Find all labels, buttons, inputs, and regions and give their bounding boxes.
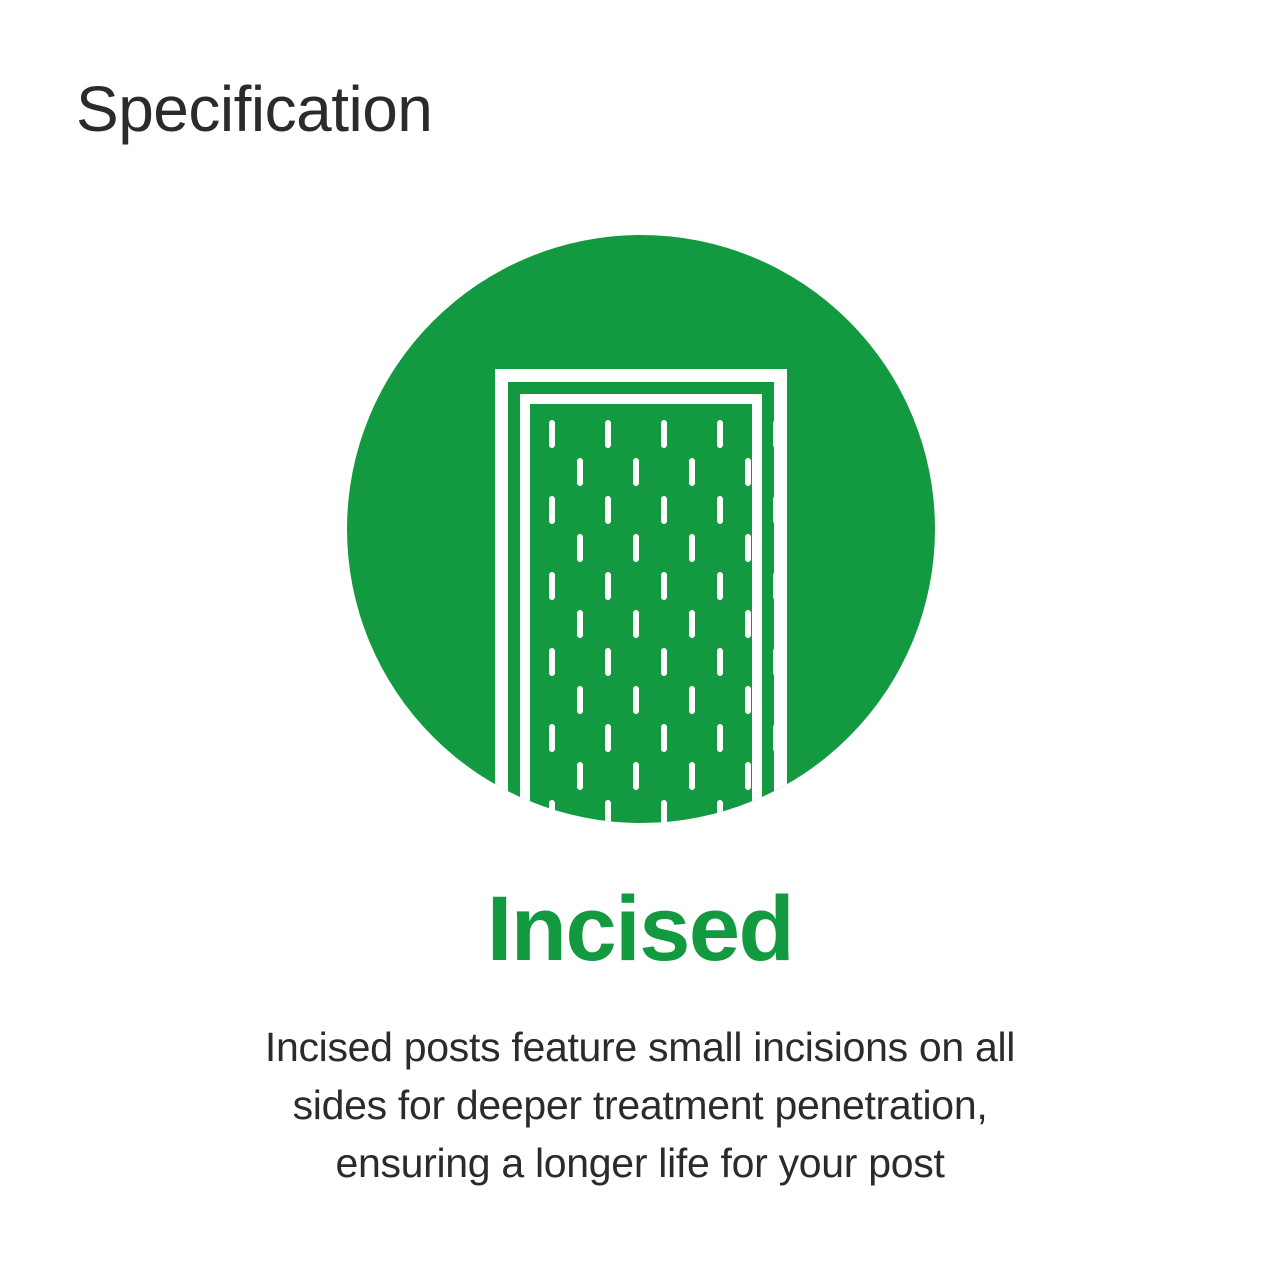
spec-description: Incised posts feature small incisions on… [135,1018,1145,1192]
incised-post-icon-graphic [347,235,935,823]
spec-description-line: Incised posts feature small incisions on… [135,1018,1145,1076]
incised-post-icon [347,235,935,823]
spec-heading: Incised [0,883,1280,975]
spec-description-line: sides for deeper treatment penetration, [135,1076,1145,1134]
specification-card: Incised Incised posts feature small inci… [0,0,1280,1278]
spec-description-line: ensuring a longer life for your post [135,1134,1145,1192]
icon-circle-background [347,235,935,823]
